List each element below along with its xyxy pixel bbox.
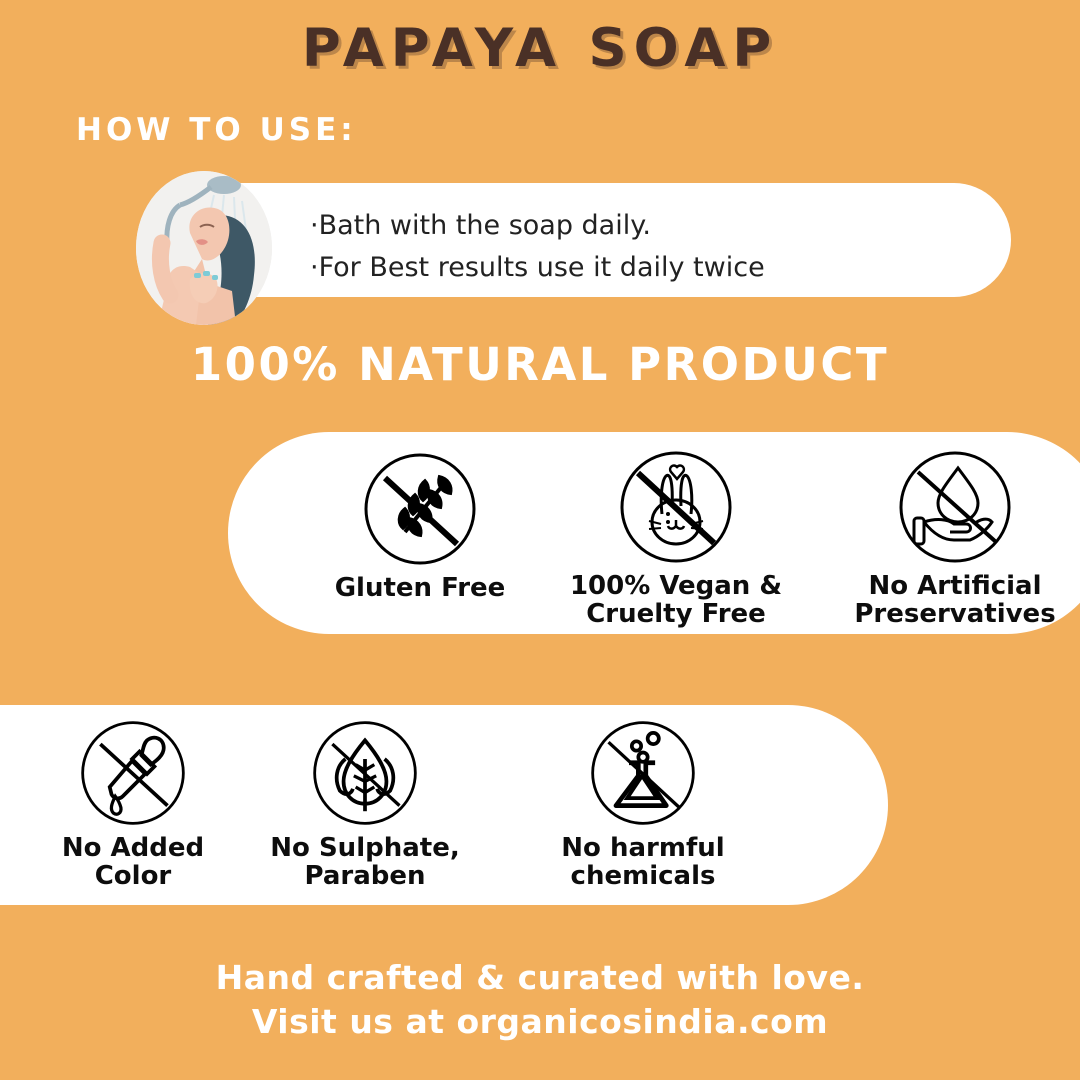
instructions-list: ·Bath with the soap daily. ·For Best res…: [310, 205, 1000, 289]
footer-website: Visit us at organicosindia.com: [0, 1000, 1080, 1044]
badge-label: No Artificial Preservatives: [826, 572, 1080, 628]
badge-label: No Added Color: [20, 834, 246, 890]
no-gluten-wheat-icon: [361, 450, 479, 568]
woman-showering-illustration: [136, 171, 272, 325]
no-added-color-dropper-icon: [78, 718, 188, 828]
no-sulphate-leaf-icon: [310, 718, 420, 828]
infographic-page: PAPAYA SOAP HOW TO USE: ·Bath with the s…: [0, 0, 1080, 1080]
natural-product-heading: 100% NATURAL PRODUCT: [0, 338, 1080, 391]
badge-vegan-cruelty-free: 100% Vegan & Cruelty Free: [556, 448, 796, 628]
badge-gluten-free: Gluten Free: [300, 450, 540, 602]
no-harmful-chemicals-flask-icon: [588, 718, 698, 828]
badge-no-harmful-chemicals: No harmful chemicals: [526, 718, 760, 890]
badge-label: No harmful chemicals: [526, 834, 760, 890]
badge-no-added-color: No Added Color: [20, 718, 246, 890]
footer-tagline: Hand crafted & curated with love.: [0, 956, 1080, 1000]
how-to-use-heading: HOW TO USE:: [76, 112, 357, 148]
badge-label: 100% Vegan & Cruelty Free: [556, 572, 796, 628]
no-preservatives-hand-drop-icon: [896, 448, 1014, 566]
badge-no-artificial-preservatives: No Artificial Preservatives: [826, 448, 1080, 628]
page-title: PAPAYA SOAP: [0, 18, 1080, 79]
no-animal-testing-bunny-icon: [617, 448, 735, 566]
footer: Hand crafted & curated with love. Visit …: [0, 956, 1080, 1044]
shower-photo: [136, 171, 272, 325]
badge-label: Gluten Free: [300, 574, 540, 602]
instruction-line-1: ·Bath with the soap daily.: [310, 205, 1000, 247]
badge-label: No Sulphate, Paraben: [250, 834, 480, 890]
instruction-line-2: ·For Best results use it daily twice: [310, 247, 1000, 289]
badge-no-sulphate-paraben: No Sulphate, Paraben: [250, 718, 480, 890]
